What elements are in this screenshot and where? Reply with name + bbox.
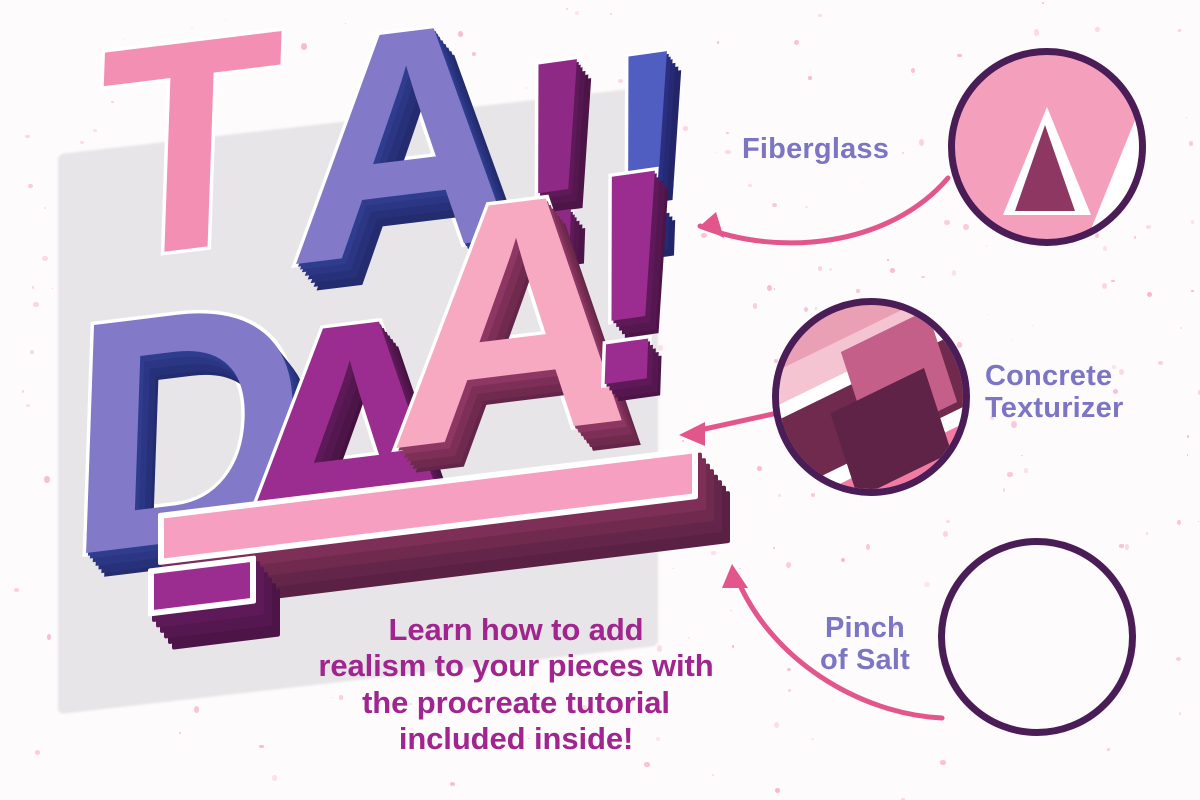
paper-speck [1180, 327, 1182, 328]
paper-speck [25, 135, 29, 138]
fiberglass-swatch[interactable] [948, 48, 1146, 246]
paper-speck [1107, 748, 1109, 751]
paper-speck [450, 782, 455, 785]
paper-speck [644, 762, 650, 766]
paper-speck [866, 544, 870, 550]
paper-speck [1177, 520, 1181, 525]
paper-speck [1178, 29, 1181, 32]
paper-speck [32, 286, 34, 289]
paper-speck [1147, 292, 1152, 297]
hero-lettering-stage: T A ! ! D A A ! [40, 10, 760, 710]
paper-speck [919, 139, 924, 146]
paper-speck [1003, 488, 1006, 491]
paper-speck [1189, 141, 1193, 145]
paper-speck [811, 493, 815, 497]
paper-speck [943, 531, 948, 537]
paper-speck [1146, 532, 1149, 535]
paper-speck [1198, 521, 1199, 522]
paper-speck [778, 494, 781, 498]
paper-speck [1158, 361, 1163, 365]
paper-speck [1186, 117, 1187, 118]
callout-label-concrete-texturizer: Concrete Texturizer [985, 360, 1123, 425]
paper-speck [1111, 280, 1115, 283]
paper-speck [712, 774, 715, 776]
paper-speck [987, 314, 988, 315]
curved-arrow-to-fiberglass [660, 168, 960, 268]
paper-speck [1007, 472, 1012, 476]
paper-speck [26, 404, 30, 407]
paper-speck [1176, 657, 1182, 661]
fiberglass-swatch-triangle-fill [1015, 125, 1075, 211]
paper-speck [35, 750, 40, 755]
paper-speck [1179, 712, 1181, 715]
paper-speck [14, 588, 19, 592]
paper-speck [829, 268, 832, 271]
paper-speck [1187, 454, 1188, 455]
paper-speck [890, 268, 895, 273]
paper-speck [856, 289, 860, 294]
pinch-of-salt-swatch-art [945, 545, 1129, 729]
paper-speck [773, 547, 774, 549]
paper-speck [1011, 340, 1013, 342]
paper-speck [921, 276, 925, 278]
paper-speck [1146, 225, 1151, 229]
straight-arrow-to-concrete [665, 408, 785, 458]
paper-speck [940, 760, 946, 764]
promo-canvas: T A ! ! D A A ! Fiberglass Concrete Text… [0, 0, 1200, 800]
paper-speck [1191, 220, 1194, 224]
paper-speck [1024, 468, 1027, 472]
paper-speck [1021, 455, 1022, 456]
paper-speck [1103, 246, 1107, 251]
paper-speck [1042, 2, 1044, 4]
concrete-texturizer-swatch[interactable] [772, 298, 970, 496]
paper-speck [1102, 283, 1107, 289]
paper-speck [810, 70, 811, 71]
paper-speck [946, 520, 950, 523]
fiberglass-swatch-art [955, 55, 1139, 239]
paper-speck [952, 270, 957, 276]
paper-speck [272, 775, 276, 781]
paper-speck [28, 184, 33, 189]
tagline-text: Learn how to add realism to your pieces … [238, 612, 794, 757]
paper-speck [1034, 29, 1039, 36]
paper-speck [1191, 290, 1193, 292]
paper-speck [911, 68, 915, 73]
paper-speck [1095, 27, 1100, 32]
paper-speck [33, 302, 39, 307]
callout-label-pinch-of-salt: Pinch of Salt [805, 612, 925, 677]
callout-label-fiberglass: Fiberglass [742, 133, 889, 165]
paper-speck [818, 14, 822, 17]
paper-speck [794, 40, 799, 45]
concrete-swatch-art [779, 305, 963, 489]
paper-speck [1187, 435, 1189, 438]
paper-speck [902, 152, 904, 154]
paper-speck [775, 788, 780, 793]
paper-speck [22, 390, 25, 393]
paper-speck [808, 76, 813, 80]
paper-speck [767, 285, 772, 291]
paper-speck [986, 245, 987, 246]
pinch-of-salt-swatch[interactable] [938, 538, 1136, 736]
paper-speck [30, 350, 35, 353]
paper-speck [774, 288, 776, 290]
paper-speck [1032, 325, 1034, 327]
paper-speck [179, 732, 181, 734]
paper-speck [861, 499, 863, 500]
